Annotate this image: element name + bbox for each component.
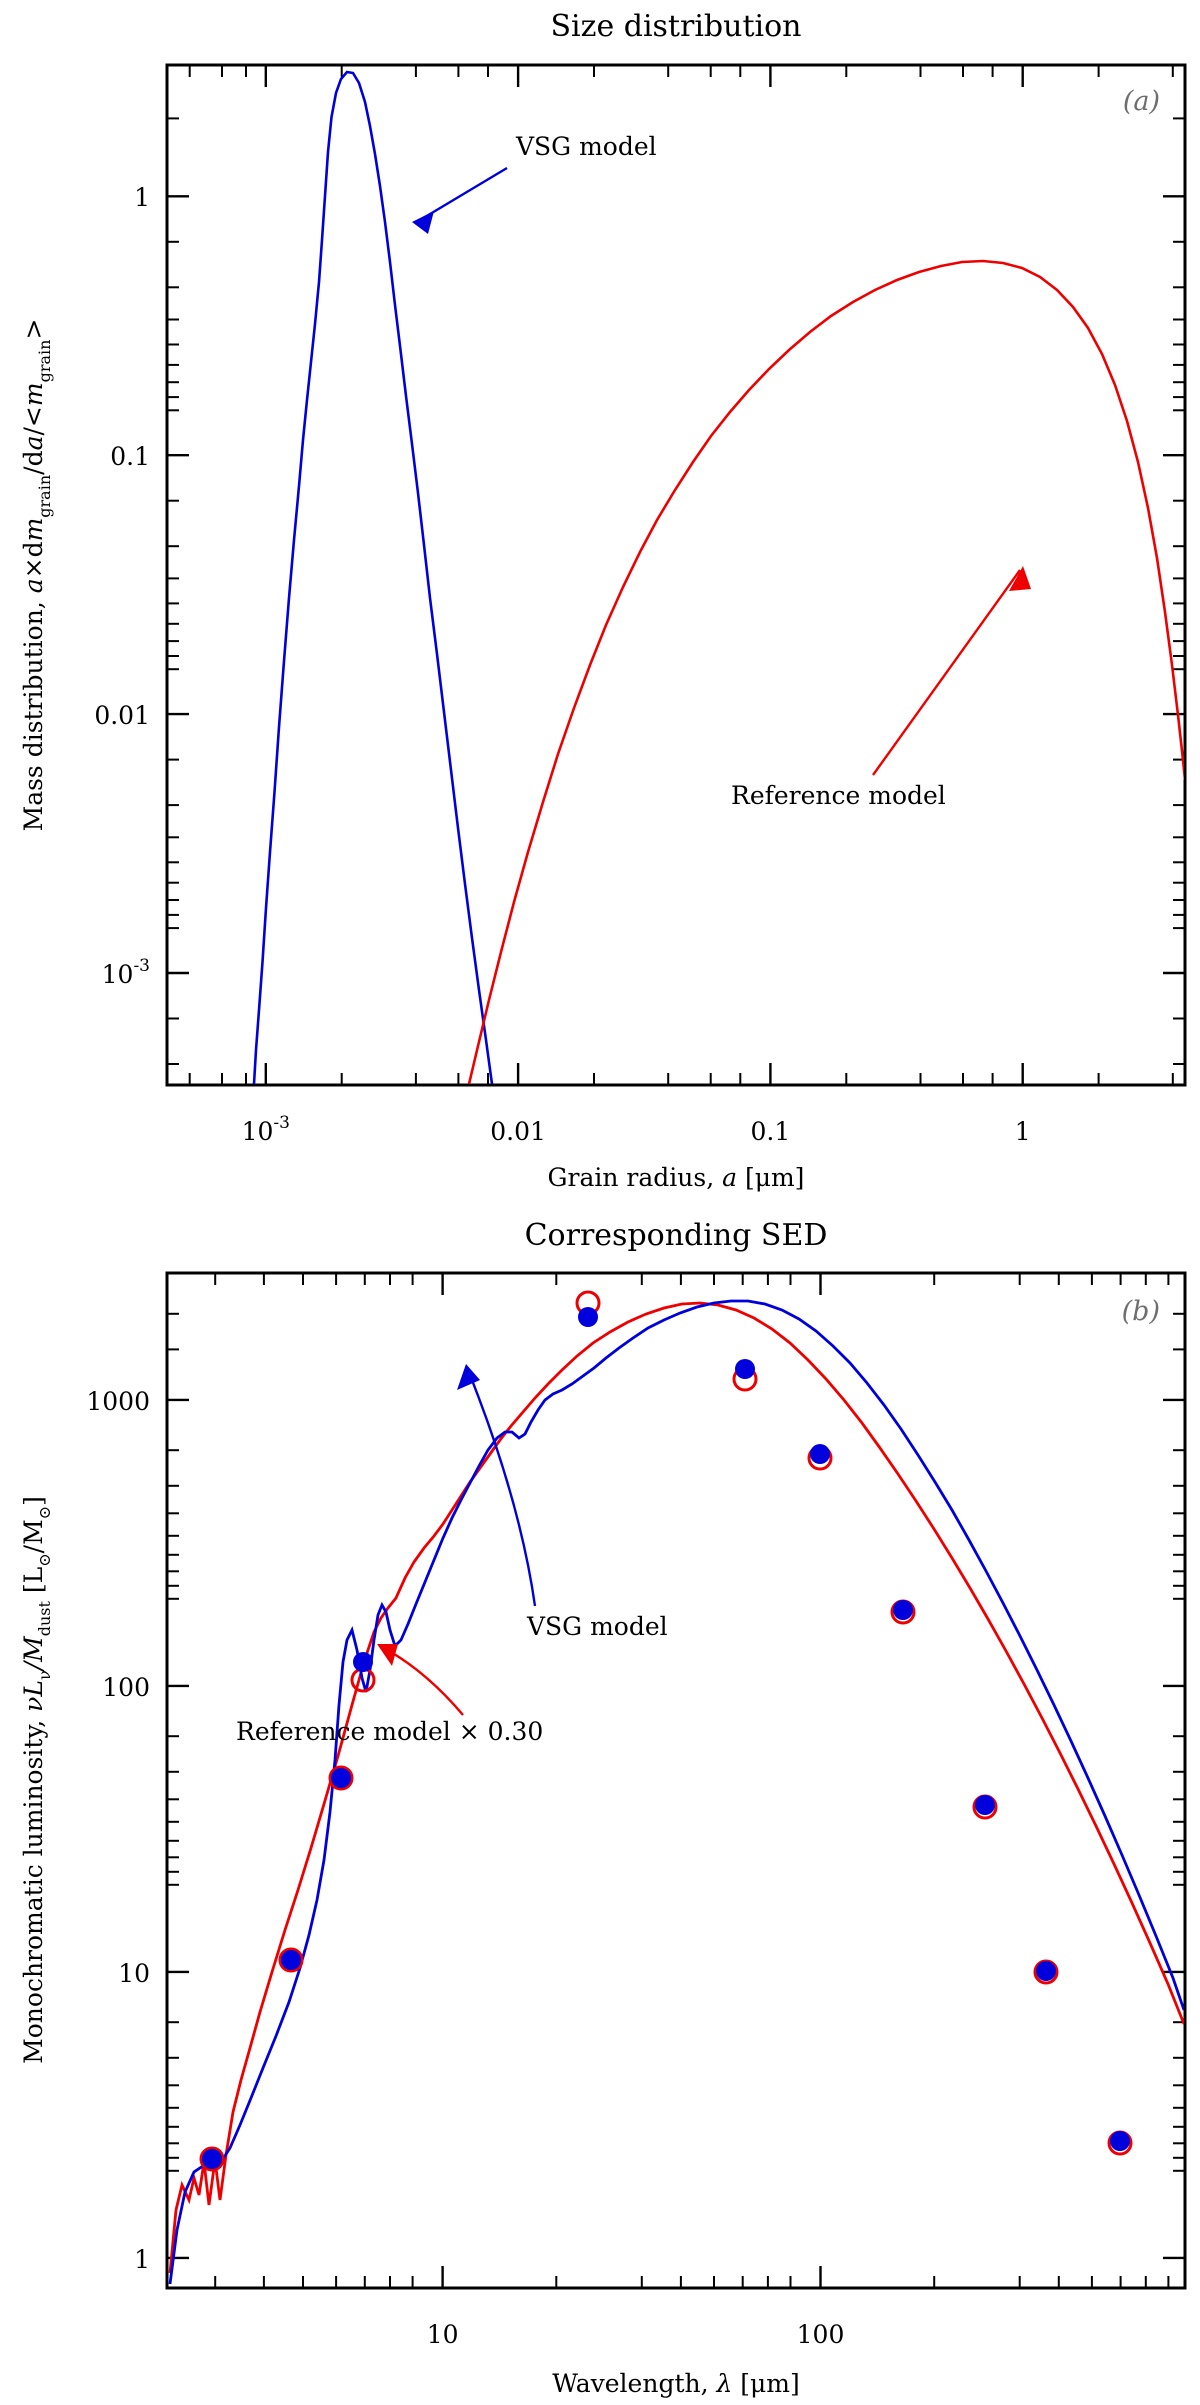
xtick-a-2: 0.1 — [751, 1117, 791, 1146]
panel-b-x-ticks — [215, 1273, 1168, 2288]
panel-b-annotation-ref: Reference model × 0.30 — [236, 1717, 543, 1746]
curve-ref-size — [469, 261, 1185, 1084]
ytick-b-2: 10 — [118, 1959, 150, 1988]
panel-b-letter: (b) — [1122, 1296, 1160, 1327]
xtick-a-3: 1 — [1015, 1117, 1031, 1146]
panel-b-y-ticklabels: 1000 100 10 1 — [86, 1387, 150, 2274]
panel-a-size-distribution: Size distribution — [0, 0, 1200, 1200]
panel-b-title: Corresponding SED — [525, 1218, 828, 1253]
xtick-b-0: 10 — [427, 2320, 459, 2349]
ytick-a-1: 0.1 — [110, 442, 150, 471]
panel-a-ref-arrowhead — [1009, 566, 1031, 591]
panel-b-ref-arrowhead — [377, 1644, 398, 1666]
panel-b-xlabel: Wavelength, λ [μm] — [552, 2369, 800, 2398]
panel-a-frame — [167, 65, 1185, 1085]
ytick-b-0: 1000 — [86, 1387, 150, 1416]
figure-root: Size distribution — [0, 0, 1200, 2405]
panel-a-title: Size distribution — [551, 9, 802, 44]
xtick-a-0-exp: -3 — [273, 1113, 290, 1133]
ytick-a-0: 1 — [134, 183, 150, 212]
panel-b-vsg-arrowhead — [457, 1364, 480, 1390]
panel-a-vsg-arrowhead — [412, 211, 434, 234]
panel-a-xlabel: Grain radius, a [μm] — [548, 1163, 805, 1192]
panel-b-annotation-vsg: VSG model — [526, 1612, 668, 1641]
xtick-a-1: 0.01 — [490, 1117, 546, 1146]
panel-a-annotation-vsg: VSG model — [515, 132, 657, 161]
ytick-b-3: 1 — [134, 2245, 150, 2274]
svg-text:10-3: 10-3 — [242, 1113, 290, 1146]
panel-b-frame — [167, 1273, 1185, 2288]
panel-a-ylabel: Mass distribution, a×dmgrain/da/<mgrain> — [19, 319, 54, 832]
xtick-a-0-mant: 10 — [242, 1117, 274, 1146]
curve-vsg-size — [254, 72, 492, 1084]
panel-a-ref-leader — [873, 570, 1020, 775]
panel-a-x-ticklabels: 10-3 0.01 0.1 1 — [242, 1113, 1031, 1146]
ytick-b-1: 100 — [102, 1673, 150, 1702]
ytick-a-3: 10-3 — [102, 956, 150, 989]
panel-a-letter: (a) — [1123, 86, 1160, 117]
panel-a-annotation-ref: Reference model — [731, 781, 946, 810]
panel-b-ylabel: Monochromatic luminosity, νLν/Mdust [L⊙/… — [19, 1496, 54, 2064]
curve-ref-sed — [170, 1303, 1184, 2273]
panel-b-x-ticklabels: 10 100 — [427, 2320, 845, 2349]
panel-b-y-ticks — [167, 1314, 1185, 2258]
curve-vsg-sed — [170, 1301, 1184, 2284]
ytick-a-2: 0.01 — [94, 701, 150, 730]
xtick-b-1: 100 — [797, 2320, 845, 2349]
panel-a-y-ticklabels: 1 0.1 0.01 10-3 — [94, 183, 150, 989]
panel-b-vsg-leader — [468, 1370, 535, 1606]
panel-b-sed: Corresponding SED — [0, 1200, 1200, 2405]
